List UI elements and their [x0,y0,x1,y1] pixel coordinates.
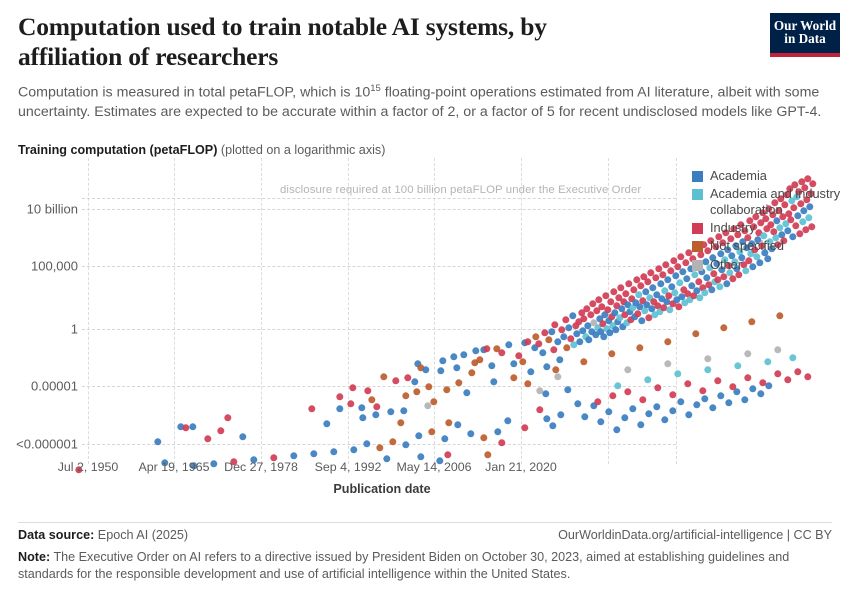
owid-logo-line-1: Our World [770,19,840,32]
data-point[interactable] [664,338,671,345]
data-point[interactable] [704,366,711,373]
data-point[interactable] [653,403,660,410]
data-point[interactable] [504,417,511,424]
legend-item[interactable]: Industry [692,220,850,235]
data-point[interactable] [498,439,505,446]
legend-swatch-icon [692,189,703,200]
legend-item[interactable]: Academia [692,168,850,183]
data-point[interactable] [776,312,783,319]
data-point[interactable] [624,388,631,395]
legend-item[interactable]: Other [692,257,850,272]
data-point[interactable] [556,356,563,363]
data-point[interactable] [637,421,644,428]
x-gridline [521,158,522,464]
data-point[interactable] [290,452,297,459]
data-point[interactable] [789,354,796,361]
legend-swatch-icon [692,260,703,271]
data-point[interactable] [539,349,546,356]
data-point[interactable] [363,440,370,447]
data-point[interactable] [621,414,628,421]
data-point[interactable] [693,401,700,408]
data-point[interactable] [685,411,692,418]
data-point[interactable] [645,410,652,417]
y-axis-caption-bold: Training computation (petaFLOP) [18,143,217,157]
data-point[interactable] [383,455,390,462]
chart-legend: AcademiaAcademia and industry collaborat… [692,168,850,275]
data-point[interactable] [564,386,571,393]
data-point[interactable] [794,368,801,375]
data-point[interactable] [439,357,446,364]
data-point[interactable] [402,392,409,399]
data-point[interactable] [323,420,330,427]
data-point[interactable] [708,286,715,293]
x-gridline [174,158,175,464]
data-point[interactable] [684,380,691,387]
data-point[interactable] [536,406,543,413]
data-point[interactable] [349,384,356,391]
data-point[interactable] [704,355,711,362]
data-point[interactable] [629,405,636,412]
chart-footer: Data source: Epoch AI (2025) OurWorldinD… [18,528,832,584]
x-axis-tick-label: Jan 21, 2020 [485,460,557,474]
data-point[interactable] [445,419,452,426]
data-point[interactable] [358,404,365,411]
data-point[interactable] [699,387,706,394]
y-gridline [82,266,676,267]
data-point[interactable] [624,366,631,373]
data-point[interactable] [387,408,394,415]
data-point[interactable] [308,405,315,412]
data-point[interactable] [644,376,651,383]
data-point[interactable] [542,390,549,397]
subtitle-exponent: 15 [370,83,381,94]
data-point[interactable] [545,336,552,343]
data-point[interactable] [709,404,716,411]
legend-item-label: Other [710,257,742,272]
data-point[interactable] [437,367,444,374]
data-point[interactable] [373,403,380,410]
x-gridline [676,158,677,464]
data-point[interactable] [725,399,732,406]
data-point[interactable] [749,385,756,392]
data-point[interactable] [765,382,772,389]
data-point[interactable] [510,360,517,367]
data-point[interactable] [519,358,526,365]
x-axis-tick-label: Dec 27, 1978 [224,460,298,474]
x-axis-tick-label: Sep 4, 1992 [315,460,382,474]
data-source: Data source: Epoch AI (2025) [18,528,188,542]
data-point[interactable] [463,389,470,396]
footer-divider [18,522,832,523]
data-point[interactable] [443,386,450,393]
data-point[interactable] [453,364,460,371]
data-point[interactable] [498,349,505,356]
chart-page: Computation used to train notable AI sys… [0,0,850,600]
data-point[interactable] [415,432,422,439]
data-point[interactable] [336,393,343,400]
data-point[interactable] [669,407,676,414]
y-axis-caption: Training computation (petaFLOP) (plotted… [18,143,385,157]
legend-swatch-icon [692,223,703,234]
data-point[interactable] [364,387,371,394]
data-point[interactable] [720,324,727,331]
data-point[interactable] [347,400,354,407]
x-gridline [348,158,349,464]
data-point[interactable] [744,374,751,381]
data-point[interactable] [480,434,487,441]
data-point[interactable] [666,306,673,313]
data-point[interactable] [204,435,211,442]
x-gridline [88,158,89,464]
data-point[interactable] [441,435,448,442]
data-point[interactable] [310,450,317,457]
data-point[interactable] [476,356,483,363]
threshold-annotation: disclosure required at 100 billion petaF… [280,184,641,196]
legend-item[interactable]: Academia and industry collaboration [692,186,850,217]
data-point[interactable] [359,414,366,421]
data-point[interactable] [605,408,612,415]
scatter-plot[interactable]: disclosure required at 100 billion petaF… [88,174,676,464]
data-point[interactable] [669,391,676,398]
data-point[interactable] [554,373,561,380]
y-axis-tick-label: 0.00001 [0,379,78,394]
data-point[interactable] [748,318,755,325]
data-point[interactable] [585,336,592,343]
x-axis-tick-label: Jul 2, 1950 [58,460,119,474]
chart-header: Computation used to train notable AI sys… [18,12,758,123]
x-axis-tick-label: Apr 19, 1965 [139,460,210,474]
data-point[interactable] [741,396,748,403]
data-point[interactable] [428,428,435,435]
page-title: Computation used to train notable AI sys… [18,12,648,72]
data-point[interactable] [505,341,512,348]
data-point[interactable] [460,351,467,358]
data-point[interactable] [494,428,501,435]
y-axis-tick-label: 1 [0,322,78,337]
data-point[interactable] [580,358,587,365]
data-point[interactable] [562,316,569,323]
data-point[interactable] [639,396,646,403]
data-point[interactable] [550,346,557,353]
x-axis-tick-label: May 14, 2006 [396,460,471,474]
chart-subtitle: Computation is measured in total petaFLO… [18,82,830,123]
data-point[interactable] [455,379,462,386]
data-point[interactable] [557,411,564,418]
y-axis-tick-label: <0.000001 [0,437,78,452]
data-source-value: Epoch AI (2025) [94,528,188,542]
data-point[interactable] [521,424,528,431]
data-point[interactable] [154,438,161,445]
data-point[interactable] [717,392,724,399]
data-point[interactable] [674,370,681,377]
data-point[interactable] [734,362,741,369]
data-point[interactable] [450,353,457,360]
data-point[interactable] [413,388,420,395]
owid-logo[interactable]: Our World in Data [770,13,840,57]
legend-swatch-icon [692,171,703,182]
data-point[interactable] [402,441,409,448]
data-point[interactable] [411,378,418,385]
data-point[interactable] [549,422,556,429]
data-point[interactable] [661,416,668,423]
data-point[interactable] [484,451,491,458]
data-point[interactable] [574,400,581,407]
data-point[interactable] [372,411,379,418]
data-point[interactable] [636,344,643,351]
data-point[interactable] [594,398,601,405]
owid-logo-line-2: in Data [770,32,840,45]
data-point[interactable] [654,384,661,391]
data-point[interactable] [189,423,196,430]
threshold-gridline [82,198,676,199]
data-source-label: Data source: [18,528,94,542]
data-point[interactable] [422,366,429,373]
data-point[interactable] [614,382,621,389]
y-gridline [82,209,676,210]
data-point[interactable] [210,460,217,467]
data-point[interactable] [581,413,588,420]
data-point[interactable] [609,392,616,399]
legend-swatch-icon [692,241,703,252]
data-point[interactable] [524,380,531,387]
data-point[interactable] [350,446,357,453]
data-point[interactable] [217,427,224,434]
y-axis-tick-label: 100,000 [0,259,78,274]
x-gridline [434,158,435,464]
data-point[interactable] [764,358,771,365]
data-point[interactable] [510,374,517,381]
data-point[interactable] [444,451,451,458]
footer-source-row: Data source: Epoch AI (2025) OurWorldinD… [18,528,832,542]
footer-note: Note: The Executive Order on AI refers t… [18,549,832,584]
data-point[interactable] [239,433,246,440]
data-point[interactable] [527,368,534,375]
legend-item-label: Industry [710,220,756,235]
data-point[interactable] [392,377,399,384]
data-point[interactable] [490,378,497,385]
data-point[interactable] [425,383,432,390]
data-point[interactable] [744,350,751,357]
data-point[interactable] [692,330,699,337]
data-point[interactable] [397,419,404,426]
data-point[interactable] [608,350,615,357]
data-point[interactable] [677,398,684,405]
data-point[interactable] [535,340,542,347]
data-point[interactable] [597,418,604,425]
data-point[interactable] [613,426,620,433]
data-point[interactable] [454,421,461,428]
data-point[interactable] [774,370,781,377]
subtitle-text-1: Computation is measured in total petaFLO… [18,85,370,101]
data-point[interactable] [483,345,490,352]
data-point[interactable] [774,346,781,353]
data-point[interactable] [389,438,396,445]
legend-item-label: Academia [710,168,767,183]
x-axis-title: Publication date [88,482,676,496]
legend-item-label: Not specified [710,238,784,253]
data-point[interactable] [543,415,550,422]
y-axis-caption-rest: (plotted on a logarithmic axis) [217,143,385,157]
data-point[interactable] [430,398,437,405]
data-point[interactable] [757,390,764,397]
footer-note-value: The Executive Order on AI refers to a di… [18,550,789,581]
data-point[interactable] [804,373,811,380]
y-axis-tick-label: 10 billion [0,202,78,217]
data-point[interactable] [376,444,383,451]
data-point[interactable] [472,347,479,354]
legend-item-label: Academia and industry collaboration [710,186,850,217]
data-point[interactable] [224,414,231,421]
data-point[interactable] [548,328,555,335]
y-gridline [82,386,676,387]
footer-note-label: Note: [18,550,50,564]
owid-link[interactable]: OurWorldinData.org/artificial-intelligen… [558,528,832,542]
legend-item[interactable]: Not specified [692,238,850,253]
data-point[interactable] [488,362,495,369]
data-point[interactable] [664,360,671,367]
data-point[interactable] [524,338,531,345]
data-point[interactable] [380,373,387,380]
data-point[interactable] [468,369,475,376]
data-point[interactable] [336,405,343,412]
x-gridline [261,158,262,464]
data-point[interactable] [400,407,407,414]
data-point[interactable] [467,430,474,437]
data-point[interactable] [784,376,791,383]
data-point[interactable] [543,363,550,370]
data-point[interactable] [701,395,708,402]
data-point[interactable] [330,448,337,455]
data-point[interactable] [714,377,721,384]
